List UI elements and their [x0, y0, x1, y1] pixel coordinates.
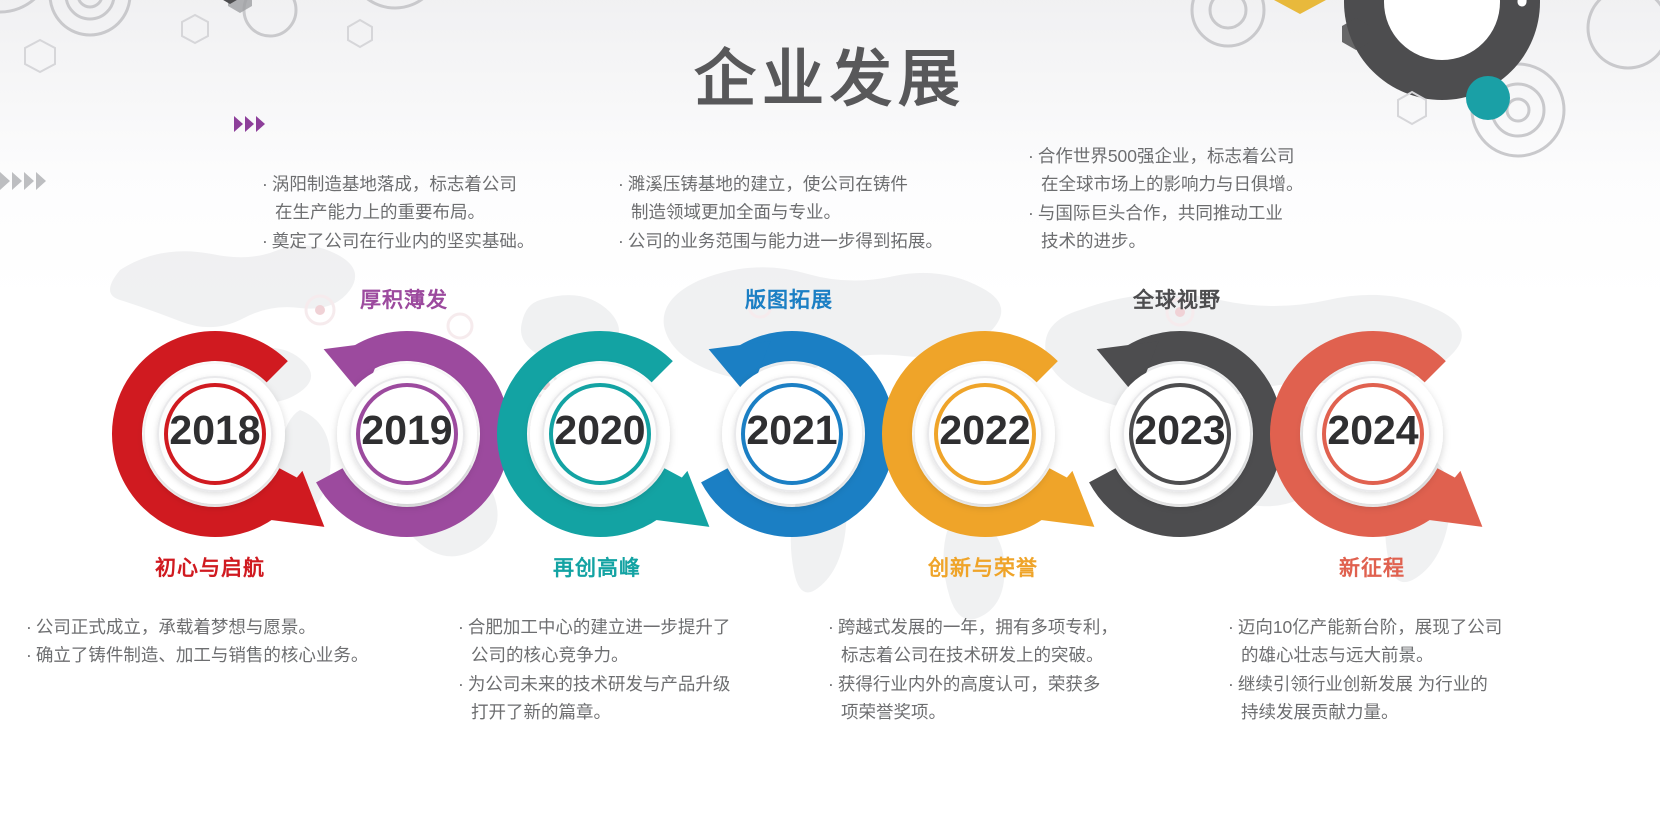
- top-note-note-2023: ·合作世界500强企业，标志着公司在全球市场上的影响力与日俱增。·与国际巨头合作…: [1028, 142, 1304, 255]
- note-line: 获得行业内外的高度认可，荣获多: [838, 674, 1101, 694]
- bullet-dot-icon: ·: [26, 645, 32, 665]
- heading-2022: 创新与荣誉: [928, 552, 1038, 582]
- bullet-dot-icon: ·: [1028, 203, 1034, 223]
- note-line-continued: 项荣誉奖项。: [828, 698, 1118, 726]
- timeline-node-2021[interactable]: [709, 341, 880, 522]
- note-line: 为公司未来的技术研发与产品升级: [468, 674, 731, 694]
- heading-2021: 版图拓展: [745, 284, 833, 314]
- timeline-node-2020[interactable]: [512, 346, 709, 527]
- bullet-dot-icon: ·: [262, 174, 268, 194]
- note-bullet-item: ·濉溪压铸基地的建立，使公司在铸件制造领域更加全面与专业。: [618, 170, 943, 227]
- node-color-ring: [743, 385, 841, 483]
- note-bullet-item: ·合作世界500强企业，标志着公司在全球市场上的影响力与日俱增。: [1028, 142, 1304, 199]
- note-line-continued: 在全球市场上的影响力与日俱增。: [1028, 170, 1304, 198]
- note-line-continued: 公司的核心竞争力。: [458, 641, 730, 669]
- node-color-ring: [551, 385, 649, 483]
- bullet-dot-icon: ·: [618, 231, 624, 251]
- node-color-ring: [936, 385, 1034, 483]
- slide-canvas: 企业发展 ·涡阳制造基地落成，标志着公司在生产能力上的重要布局。·奠定了公司在行…: [0, 0, 1660, 829]
- top-note-note-2019: ·涡阳制造基地落成，标志着公司在生产能力上的重要布局。·奠定了公司在行业内的坚实…: [262, 170, 534, 255]
- bullet-dot-icon: ·: [262, 231, 268, 251]
- bullet-dot-icon: ·: [828, 617, 834, 637]
- note-line: 合肥加工中心的建立进一步提升了: [468, 617, 731, 637]
- note-line: 濉溪压铸基地的建立，使公司在铸件: [628, 174, 908, 194]
- bottom-note-note-2022: ·跨越式发展的一年，拥有多项专利，标志着公司在技术研发上的突破。·获得行业内外的…: [828, 613, 1118, 726]
- timeline-node-2018[interactable]: [127, 346, 324, 527]
- timeline-node-2023[interactable]: [1097, 341, 1268, 522]
- bullet-dot-icon: ·: [458, 617, 464, 637]
- note-line: 涡阳制造基地落成，标志着公司: [272, 174, 517, 194]
- bullet-dot-icon: ·: [1028, 146, 1034, 166]
- chevron-accent-purple-icon: [234, 116, 274, 132]
- page-title: 企业发展: [0, 28, 1660, 118]
- note-line: 迈向10亿产能新台阶，展现了公司: [1238, 617, 1502, 637]
- note-line: 奠定了公司在行业内的坚实基础。: [272, 231, 535, 251]
- bullet-dot-icon: ·: [1228, 617, 1234, 637]
- note-bullet-item: ·跨越式发展的一年，拥有多项专利，标志着公司在技术研发上的突破。: [828, 613, 1118, 670]
- note-line: 继续引领行业创新发展 为行业的: [1238, 674, 1488, 694]
- heading-2019: 厚积薄发: [360, 284, 448, 314]
- node-color-ring: [1324, 385, 1422, 483]
- note-bullet-item: ·为公司未来的技术研发与产品升级打开了新的篇章。: [458, 670, 730, 727]
- note-line: 跨越式发展的一年，拥有多项专利，: [838, 617, 1118, 637]
- timeline-node-2022[interactable]: [897, 346, 1094, 527]
- note-line-continued: 在生产能力上的重要布局。: [262, 198, 534, 226]
- node-color-ring: [166, 385, 264, 483]
- chevron-accent-gray-icon: [0, 172, 48, 190]
- note-line-continued: 持续发展贡献力量。: [1228, 698, 1502, 726]
- bullet-dot-icon: ·: [26, 617, 32, 637]
- heading-2023: 全球视野: [1133, 284, 1221, 314]
- note-bullet-item: ·继续引领行业创新发展 为行业的持续发展贡献力量。: [1228, 670, 1502, 727]
- heading-2018: 初心与启航: [155, 552, 265, 582]
- note-bullet-item: ·公司正式成立，承载着梦想与愿景。: [26, 613, 368, 641]
- note-bullet-item: ·涡阳制造基地落成，标志着公司在生产能力上的重要布局。: [262, 170, 534, 227]
- note-bullet-item: ·公司的业务范围与能力进一步得到拓展。: [618, 227, 943, 255]
- note-line-continued: 标志着公司在技术研发上的突破。: [828, 641, 1118, 669]
- top-note-note-2021: ·濉溪压铸基地的建立，使公司在铸件制造领域更加全面与专业。·公司的业务范围与能力…: [618, 170, 943, 255]
- note-line: 与国际巨头合作，共同推动工业: [1038, 203, 1283, 223]
- note-bullet-item: ·奠定了公司在行业内的坚实基础。: [262, 227, 534, 255]
- timeline-node-2019[interactable]: [324, 341, 495, 522]
- bottom-note-note-2018: ·公司正式成立，承载着梦想与愿景。·确立了铸件制造、加工与销售的核心业务。: [26, 613, 368, 670]
- note-bullet-item: ·迈向10亿产能新台阶，展现了公司的雄心壮志与远大前景。: [1228, 613, 1502, 670]
- node-color-ring: [1131, 385, 1229, 483]
- bottom-note-note-2024: ·迈向10亿产能新台阶，展现了公司的雄心壮志与远大前景。·继续引领行业创新发展 …: [1228, 613, 1502, 726]
- note-line-continued: 技术的进步。: [1028, 227, 1304, 255]
- note-line: 公司的业务范围与能力进一步得到拓展。: [628, 231, 943, 251]
- node-color-ring: [358, 385, 456, 483]
- note-line: 确立了铸件制造、加工与销售的核心业务。: [36, 645, 369, 665]
- note-bullet-item: ·与国际巨头合作，共同推动工业技术的进步。: [1028, 199, 1304, 256]
- note-line: 合作世界500强企业，标志着公司: [1038, 146, 1295, 166]
- note-line-continued: 的雄心壮志与远大前景。: [1228, 641, 1502, 669]
- note-line: 公司正式成立，承载着梦想与愿景。: [36, 617, 316, 637]
- note-bullet-item: ·获得行业内外的高度认可，荣获多项荣誉奖项。: [828, 670, 1118, 727]
- note-line-continued: 制造领域更加全面与专业。: [618, 198, 943, 226]
- timeline-node-2024[interactable]: [1285, 346, 1482, 527]
- timeline-svg: [0, 318, 1660, 568]
- timeline-graphic: 2018201920202021202220232024: [0, 318, 1660, 568]
- bullet-dot-icon: ·: [1228, 674, 1234, 694]
- note-line-continued: 打开了新的篇章。: [458, 698, 730, 726]
- heading-2024: 新征程: [1339, 552, 1405, 582]
- bottom-note-note-2020: ·合肥加工中心的建立进一步提升了公司的核心竞争力。·为公司未来的技术研发与产品升…: [458, 613, 730, 726]
- bullet-dot-icon: ·: [828, 674, 834, 694]
- bullet-dot-icon: ·: [618, 174, 624, 194]
- note-bullet-item: ·合肥加工中心的建立进一步提升了公司的核心竞争力。: [458, 613, 730, 670]
- heading-2020: 再创高峰: [553, 552, 641, 582]
- bullet-dot-icon: ·: [458, 674, 464, 694]
- note-bullet-item: ·确立了铸件制造、加工与销售的核心业务。: [26, 641, 368, 669]
